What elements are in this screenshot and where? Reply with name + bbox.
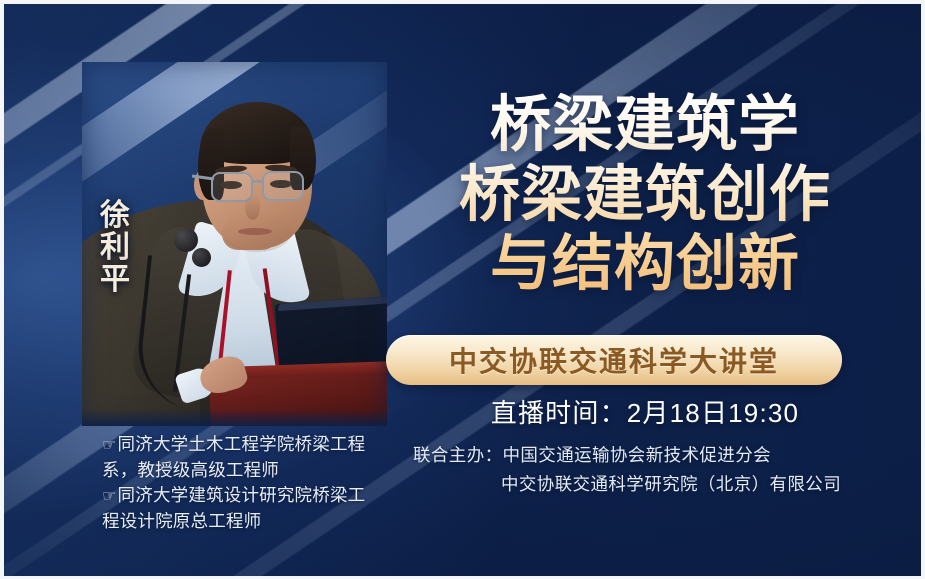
host-org-1: 中国交通运输协会新技术促进分会 bbox=[503, 445, 772, 465]
title-line-1: 桥梁建筑学 bbox=[387, 90, 903, 160]
speaker-credentials: ☞同济大学土木工程学院桥梁工程 系，教授级高级工程师 ☞同济大学建筑设计研究院桥… bbox=[102, 432, 398, 535]
speaker-name-char-3: 平 bbox=[94, 264, 136, 296]
series-badge-label: 中交协联交通科学大讲堂 bbox=[449, 340, 779, 380]
credential-line-4: 程设计院原总工程师 bbox=[102, 509, 398, 535]
host-row-1: 联合主办：中国交通运输协会新技术促进分会 bbox=[413, 441, 903, 470]
credential-line-2: 系，教授级高级工程师 bbox=[102, 458, 398, 484]
title-line-3: 与结构创新 bbox=[387, 229, 903, 299]
credential-text-3: 同济大学建筑设计研究院桥梁工 bbox=[118, 485, 366, 505]
credential-text-1: 同济大学土木工程学院桥梁工程 bbox=[118, 434, 366, 454]
series-badge: 中交协联交通科学大讲堂 bbox=[386, 335, 842, 385]
credential-text-2: 系，教授级高级工程师 bbox=[102, 460, 279, 480]
webinar-poster: 徐 利 平 ☞同济大学土木工程学院桥梁工程 系，教授级高级工程师 ☞同济大学建筑… bbox=[0, 0, 925, 579]
speaker-name-char-1: 徐 bbox=[94, 200, 136, 232]
host-row-2: 中交协联交通科学研究院（北京）有限公司 bbox=[413, 470, 903, 499]
host-organizations: 联合主办：中国交通运输协会新技术促进分会 中交协联交通科学研究院（北京）有限公司 bbox=[413, 441, 903, 500]
poster-title: 桥梁建筑学 桥梁建筑创作 与结构创新 bbox=[387, 90, 903, 299]
host-org-2: 中交协联交通科学研究院（北京）有限公司 bbox=[501, 474, 841, 494]
credential-line-3: ☞同济大学建筑设计研究院桥梁工 bbox=[102, 483, 398, 509]
credential-line-1: ☞同济大学土木工程学院桥梁工程 bbox=[102, 432, 398, 458]
live-time: 直播时间：2月18日19:30 bbox=[387, 393, 903, 430]
speaker-name: 徐 利 平 bbox=[94, 200, 136, 295]
photo-bottom-fade bbox=[82, 410, 387, 426]
poster-main-column: 桥梁建筑学 桥梁建筑创作 与结构创新 中交协联交通科学大讲堂 直播时间：2月18… bbox=[387, 4, 921, 576]
pointing-hand-icon-2: ☞ bbox=[102, 488, 117, 505]
title-line-2: 桥梁建筑创作 bbox=[387, 160, 903, 230]
credential-text-4: 程设计院原总工程师 bbox=[102, 511, 261, 531]
host-label: 联合主办： bbox=[413, 445, 503, 465]
speaker-name-char-2: 利 bbox=[94, 232, 136, 264]
pointing-hand-icon: ☞ bbox=[102, 437, 117, 454]
